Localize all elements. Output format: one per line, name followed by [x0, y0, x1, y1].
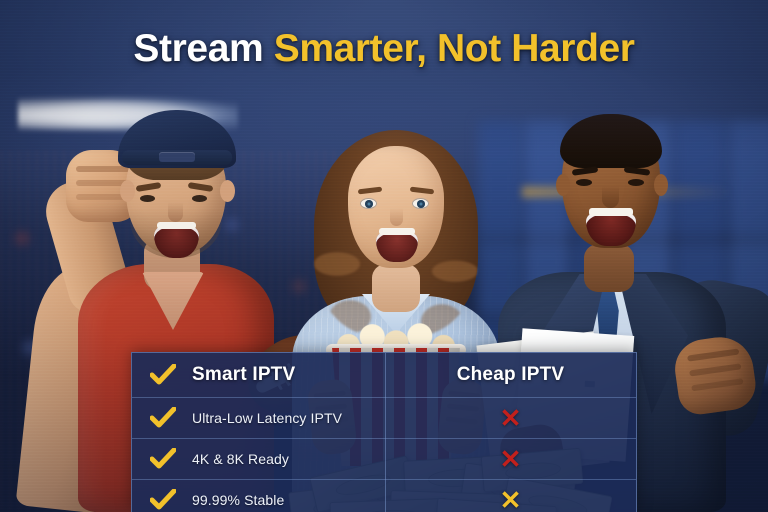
feature-cell-cheap-0: ✕ — [385, 398, 636, 438]
headline-yellow-text: Smarter, Not Harder — [274, 27, 635, 70]
header-cell-right: Cheap IPTV — [385, 353, 636, 397]
check-icon — [150, 489, 176, 511]
x-icon: ✕ — [500, 487, 522, 512]
feature-cell-smart-1: 4K & 8K Ready — [132, 439, 385, 479]
feature-cell-cheap-1: ✕ — [385, 439, 636, 479]
x-icon: ✕ — [500, 446, 522, 472]
table-row: 99.99% Stable ✕ — [132, 480, 636, 512]
table-header-row: Smart IPTV Cheap IPTV — [132, 353, 636, 398]
check-icon — [150, 407, 176, 429]
check-icon — [150, 364, 176, 386]
feature-cell-cheap-2: ✕ — [385, 480, 636, 512]
header-cell-left: Smart IPTV — [132, 353, 385, 397]
feature-label-1: 4K & 8K Ready — [192, 451, 289, 467]
feature-label-0: Ultra-Low Latency IPTV — [192, 410, 342, 426]
table-row: 4K & 8K Ready ✕ — [132, 439, 636, 480]
x-icon: ✕ — [500, 405, 522, 431]
feature-cell-smart-0: Ultra-Low Latency IPTV — [132, 398, 385, 438]
feature-cell-smart-2: 99.99% Stable — [132, 480, 385, 512]
feature-label-2: 99.99% Stable — [192, 492, 284, 508]
check-icon — [150, 448, 176, 470]
column-divider — [385, 353, 386, 512]
table-row: Ultra-Low Latency IPTV ✕ — [132, 398, 636, 439]
header-label-smart-iptv: Smart IPTV — [192, 364, 295, 386]
poster-stage: Stream Smarter, Not Harder Smart IPTV Ch… — [0, 0, 768, 512]
header-label-cheap-iptv: Cheap IPTV — [457, 364, 565, 386]
headline-white-text: Stream — [133, 27, 273, 70]
comparison-table: Smart IPTV Cheap IPTV Ultra-Low Latency … — [131, 352, 637, 512]
page-title: Stream Smarter, Not Harder — [0, 27, 768, 71]
